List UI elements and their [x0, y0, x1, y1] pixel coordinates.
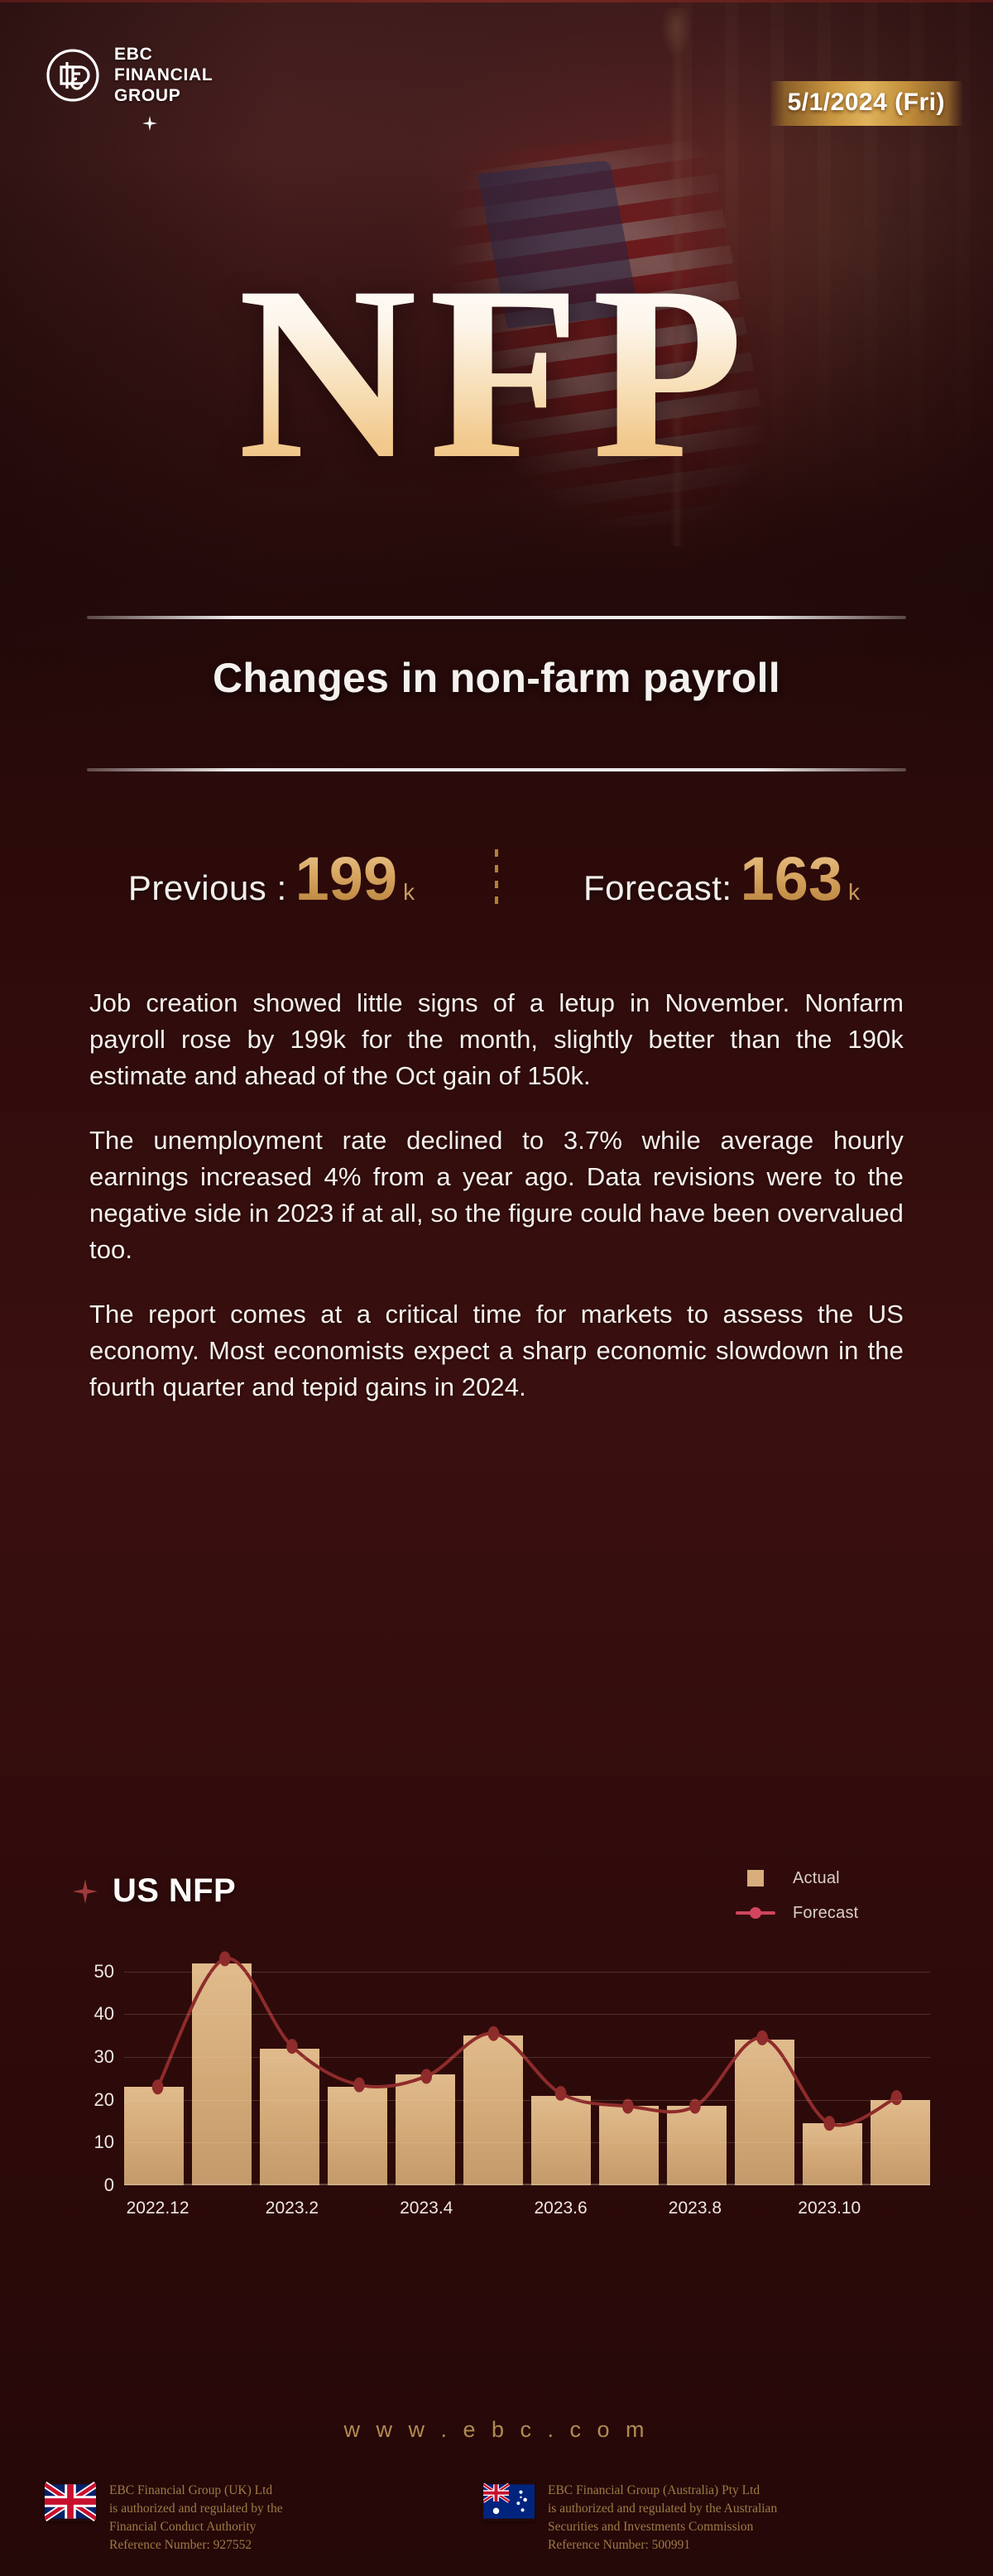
sparkle-icon	[73, 1879, 98, 1904]
x-axis-tick: 2023.2	[266, 2199, 319, 2218]
forecast-label: Forecast:	[583, 868, 732, 908]
y-axis-tick: 30	[94, 2046, 114, 2068]
regulatory-uk-text: EBC Financial Group (UK) Ltd is authoriz…	[109, 2482, 283, 2554]
gridline	[124, 2142, 930, 2143]
divider-bottom	[87, 768, 906, 771]
previous-label: Previous :	[128, 868, 287, 908]
date-badge: 5/1/2024 (Fri)	[770, 81, 963, 126]
previous-unit: k	[403, 879, 415, 906]
forecast-point	[622, 2098, 634, 2113]
chart-legend: Actual Forecast	[732, 1864, 922, 1927]
x-axis: 2022.122023.22023.42023.62023.82023.10	[124, 2199, 930, 2232]
paragraph: Job creation showed little signs of a le…	[89, 985, 904, 1094]
website-url[interactable]: w w w . e b c . c o m	[0, 2417, 993, 2443]
forecast-point	[286, 2039, 298, 2054]
legend-label-actual: Actual	[793, 1869, 840, 1888]
x-axis-tick: 2023.6	[534, 2199, 587, 2218]
regulatory-au-text: EBC Financial Group (Australia) Pty Ltd …	[548, 2482, 777, 2554]
regulatory-au: EBC Financial Group (Australia) Pty Ltd …	[483, 2482, 922, 2554]
y-axis-tick: 20	[94, 2089, 114, 2111]
stat-forecast: Forecast: 163 k	[498, 850, 945, 908]
x-axis-tick: 2022.12	[127, 2199, 189, 2218]
uk-line-4: Reference Number: 927552	[109, 2536, 283, 2554]
forecast-point	[420, 2069, 432, 2083]
forecast-point	[219, 1951, 231, 1966]
brand-line-3: GROUP	[114, 86, 213, 107]
x-axis-tick: 2023.8	[669, 2199, 722, 2218]
australia-flag-icon	[483, 2482, 535, 2521]
brand-wordmark: EBC FINANCIAL GROUP	[114, 45, 213, 106]
forecast-value: 163	[741, 850, 842, 908]
forecast-line-series	[124, 1950, 930, 2185]
forecast-point	[823, 2116, 835, 2131]
uk-line-3: Financial Conduct Authority	[109, 2518, 283, 2536]
gridline	[124, 2014, 930, 2015]
forecast-point	[756, 2031, 768, 2045]
gridline	[124, 1972, 930, 1973]
chart-plot: 01020304050 2022.122023.22023.42023.6202…	[70, 1950, 930, 2223]
brand-logo[interactable]: EBC FINANCIAL GROUP	[43, 45, 213, 106]
legend-label-forecast: Forecast	[793, 1904, 858, 1923]
y-axis-tick: 0	[104, 2175, 114, 2196]
x-axis-tick: 2023.4	[400, 2199, 453, 2218]
forecast-point	[689, 2098, 701, 2113]
hero-acronym: NFP	[0, 248, 993, 497]
legend-swatch-actual-icon	[732, 1870, 780, 1886]
brand-line-1: EBC	[114, 45, 213, 65]
forecast-point	[152, 2079, 164, 2094]
au-line-3: Securities and Investments Commission	[548, 2518, 777, 2536]
chart-header: US NFP Actual Forecast	[70, 1864, 930, 1947]
au-line-1: EBC Financial Group (Australia) Pty Ltd	[548, 2482, 777, 2500]
legend-item-actual: Actual	[732, 1864, 922, 1892]
paragraph: The report comes at a critical time for …	[89, 1296, 904, 1406]
article-body: Job creation showed little signs of a le…	[89, 985, 904, 1406]
forecast-point	[488, 2026, 500, 2041]
gridline	[124, 2057, 930, 2058]
stats-row: Previous : 199 k Forecast: 163 k	[0, 844, 993, 914]
legend-line-forecast-icon	[732, 1911, 780, 1915]
legend-item-forecast: Forecast	[732, 1899, 922, 1927]
nfp-chart: US NFP Actual Forecast 01020304050 2022.…	[70, 1864, 930, 2328]
forecast-unit: k	[848, 879, 860, 906]
divider-top	[87, 616, 906, 619]
y-axis-tick: 10	[94, 2131, 114, 2153]
plot-area	[124, 1950, 930, 2185]
x-axis-baseline	[124, 2184, 930, 2185]
au-line-2: is authorized and regulated by the Austr…	[548, 2500, 777, 2518]
regulatory-uk: EBC Financial Group (UK) Ltd is authoriz…	[45, 2482, 483, 2554]
uk-flag-icon	[45, 2482, 96, 2521]
forecast-point	[353, 2078, 365, 2093]
sparkle-icon	[142, 116, 157, 131]
y-axis-tick: 40	[94, 2003, 114, 2025]
y-axis: 01020304050	[70, 1950, 124, 2223]
header: EBC FINANCIAL GROUP 5/1/2024 (Fri)	[0, 0, 993, 132]
y-axis-tick: 50	[94, 1961, 114, 1982]
brand-line-2: FINANCIAL	[114, 65, 213, 86]
stat-previous: Previous : 199 k	[48, 850, 495, 908]
regulatory-notices: EBC Financial Group (UK) Ltd is authoriz…	[0, 2482, 993, 2554]
uk-line-2: is authorized and regulated by the	[109, 2500, 283, 2518]
gridline	[124, 2100, 930, 2101]
forecast-point	[891, 2090, 903, 2105]
paragraph: The unemployment rate declined to 3.7% w…	[89, 1122, 904, 1268]
x-axis-tick: 2023.10	[798, 2199, 861, 2218]
ebc-monogram-icon	[43, 46, 103, 105]
stats-divider	[495, 849, 498, 909]
chart-title: US NFP	[113, 1872, 236, 1910]
previous-value: 199	[295, 850, 397, 908]
forecast-point	[555, 2086, 567, 2101]
hero-subtitle: Changes in non-farm payroll	[0, 654, 993, 702]
au-line-4: Reference Number: 500991	[548, 2536, 777, 2554]
uk-line-1: EBC Financial Group (UK) Ltd	[109, 2482, 283, 2500]
